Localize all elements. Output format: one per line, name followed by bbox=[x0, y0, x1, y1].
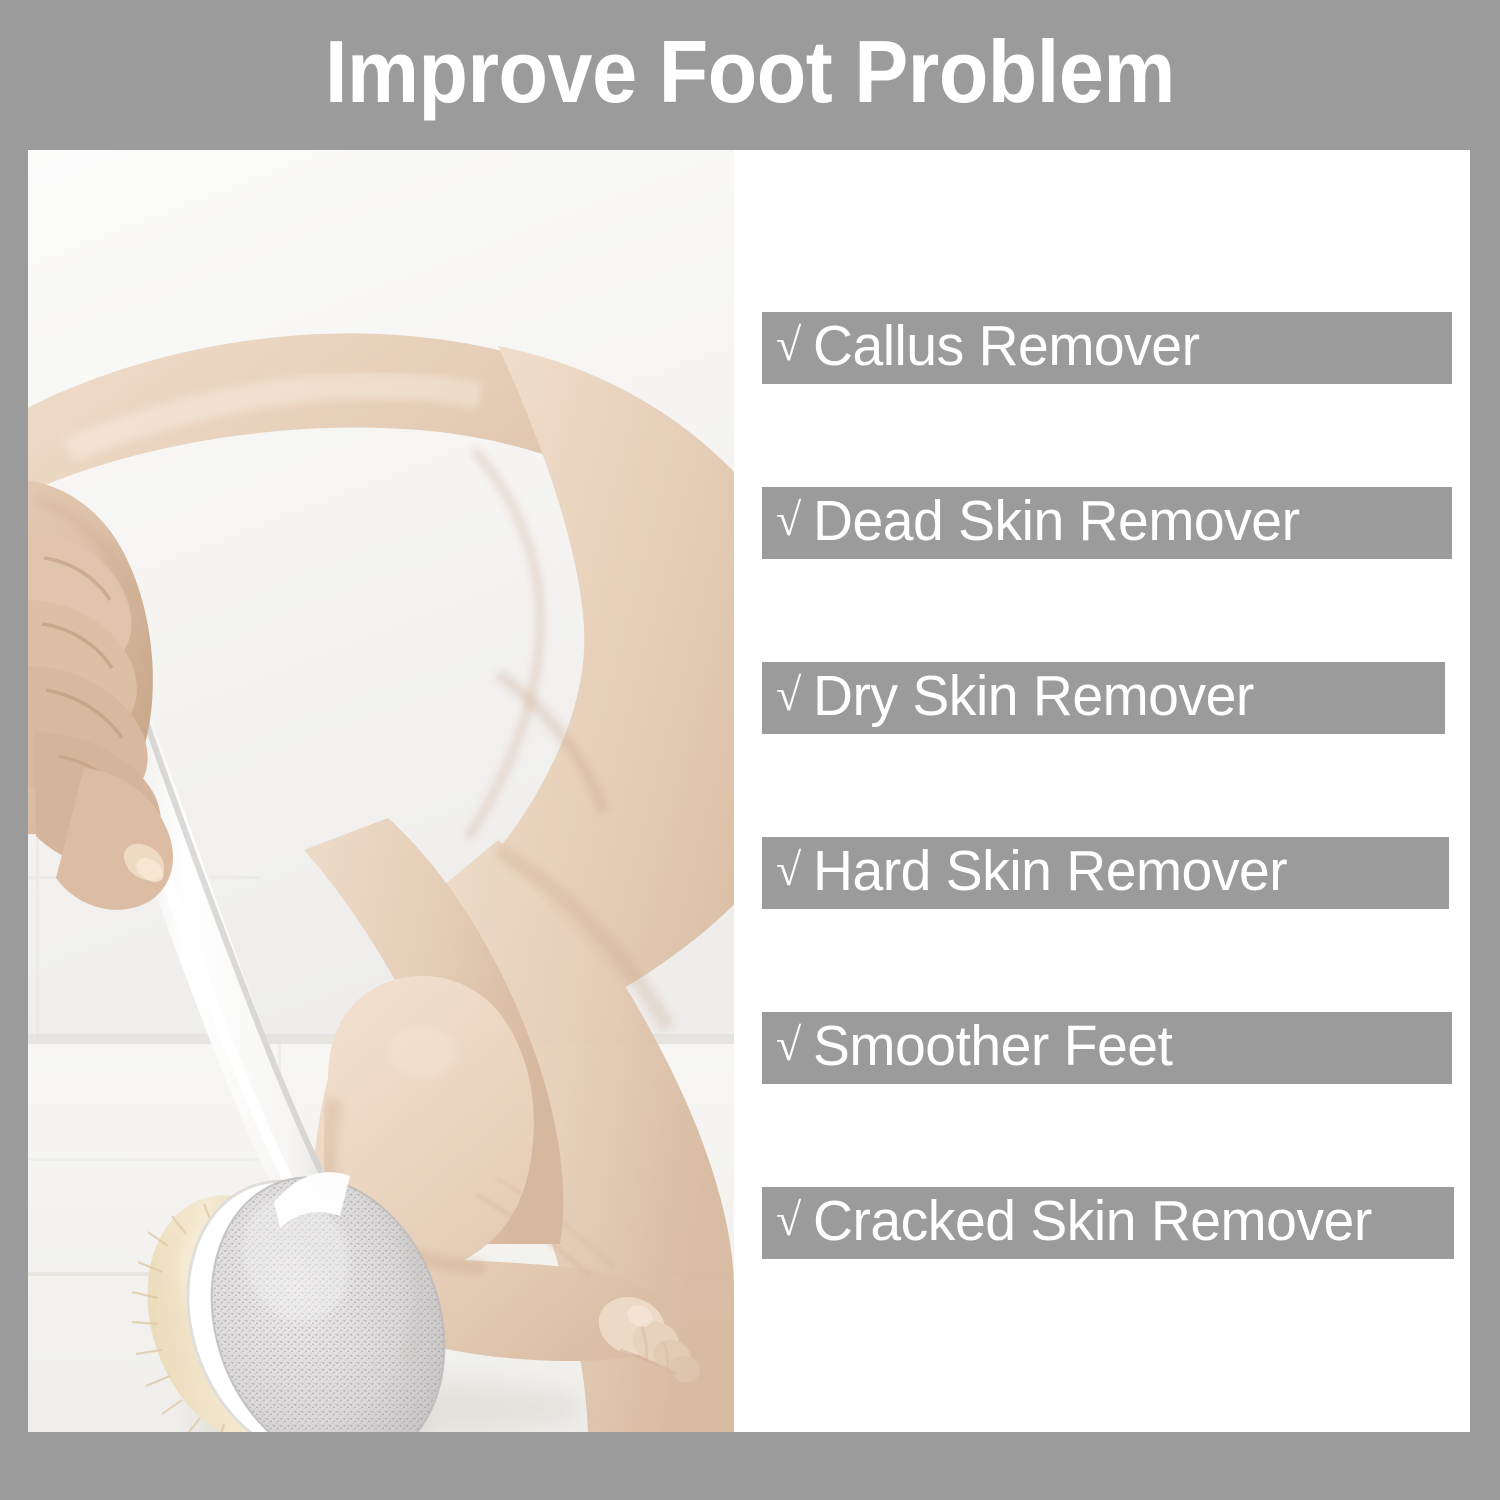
feature-label: Cracked Skin Remover bbox=[813, 1193, 1372, 1250]
check-icon: √ bbox=[776, 1022, 801, 1068]
feature-list: √ Callus Remover √ Dead Skin Remover √ D… bbox=[734, 150, 1470, 1432]
check-icon: √ bbox=[776, 847, 801, 893]
feature-label: Hard Skin Remover bbox=[813, 843, 1287, 900]
check-icon: √ bbox=[776, 672, 801, 718]
page-title: Improve Foot Problem bbox=[325, 28, 1175, 122]
product-photo bbox=[28, 150, 734, 1432]
check-icon: √ bbox=[776, 1197, 801, 1243]
feature-item-4: √ Hard Skin Remover bbox=[762, 837, 1449, 909]
feature-item-1: √ Callus Remover bbox=[762, 312, 1452, 384]
feature-item-2: √ Dead Skin Remover bbox=[762, 487, 1452, 559]
feature-item-6: √ Cracked Skin Remover bbox=[762, 1187, 1454, 1259]
feature-label: Dry Skin Remover bbox=[813, 668, 1254, 725]
feature-item-5: √ Smoother Feet bbox=[762, 1012, 1452, 1084]
content-panel: √ Callus Remover √ Dead Skin Remover √ D… bbox=[28, 150, 1470, 1432]
feature-label: Smoother Feet bbox=[813, 1018, 1172, 1075]
infographic-page: Improve Foot Problem bbox=[0, 0, 1500, 1500]
title-banner: Improve Foot Problem bbox=[0, 0, 1500, 150]
feature-item-3: √ Dry Skin Remover bbox=[762, 662, 1445, 734]
check-icon: √ bbox=[776, 322, 801, 368]
feature-label: Callus Remover bbox=[813, 318, 1200, 375]
product-photo-illustration bbox=[28, 150, 734, 1432]
feature-label: Dead Skin Remover bbox=[813, 493, 1300, 550]
check-icon: √ bbox=[776, 497, 801, 543]
